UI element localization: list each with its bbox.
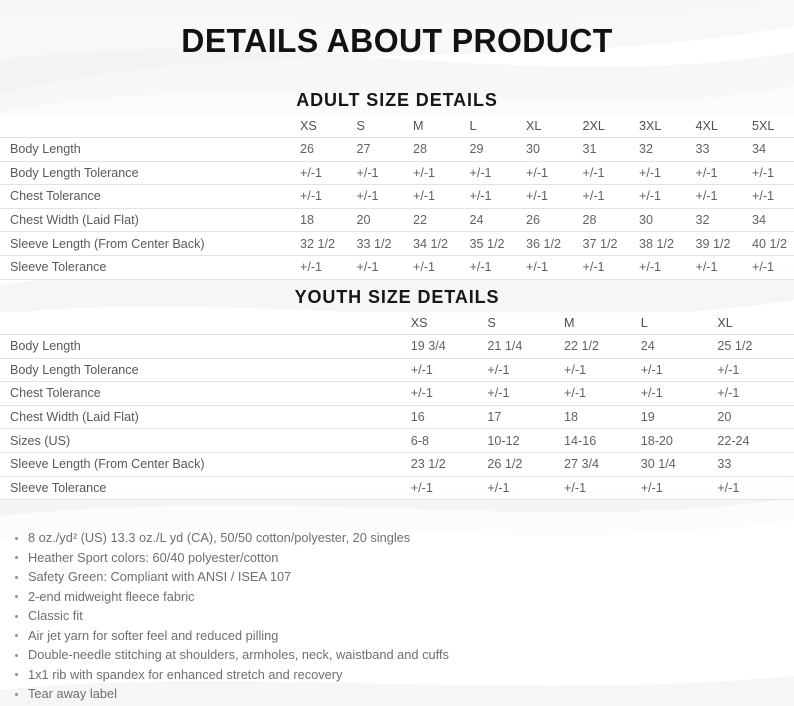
cell: +/-1 bbox=[300, 255, 357, 279]
cell: +/-1 bbox=[583, 161, 640, 185]
row-label: Chest Tolerance bbox=[0, 382, 411, 406]
cell: 16 bbox=[411, 405, 488, 429]
cell: +/-1 bbox=[487, 358, 564, 382]
cell: 36 1/2 bbox=[526, 232, 583, 256]
list-item: Safety Green: Compliant with ANSI / ISEA… bbox=[14, 567, 449, 587]
row-label: Body Length bbox=[0, 335, 411, 359]
cell: 32 1/2 bbox=[300, 232, 357, 256]
cell: +/-1 bbox=[696, 255, 753, 279]
table-row: Sleeve Length (From Center Back) 23 1/2 … bbox=[0, 452, 794, 476]
cell: 28 bbox=[413, 138, 470, 162]
cell: +/-1 bbox=[564, 358, 641, 382]
youth-size-table: XS S M L XL Body Length 19 3/4 21 1/4 22… bbox=[0, 312, 794, 500]
row-label: Sleeve Tolerance bbox=[0, 255, 300, 279]
cell: +/-1 bbox=[526, 161, 583, 185]
cell: 37 1/2 bbox=[583, 232, 640, 256]
youth-col-header: M bbox=[564, 312, 641, 335]
adult-size-details-heading: ADULT SIZE DETAILS bbox=[0, 90, 794, 111]
table-row: Sleeve Tolerance +/-1 +/-1 +/-1 +/-1 +/-… bbox=[0, 476, 794, 500]
row-label: Chest Width (Laid Flat) bbox=[0, 405, 411, 429]
adult-col-header: 3XL bbox=[639, 115, 696, 138]
cell: +/-1 bbox=[413, 255, 470, 279]
row-label: Sleeve Tolerance bbox=[0, 476, 411, 500]
cell: +/-1 bbox=[564, 382, 641, 406]
cell: +/-1 bbox=[752, 185, 794, 209]
youth-table-head: XS S M L XL bbox=[0, 312, 794, 335]
list-item: Tear away label bbox=[14, 684, 449, 704]
cell: +/-1 bbox=[696, 185, 753, 209]
row-label: Body Length Tolerance bbox=[0, 161, 300, 185]
cell: +/-1 bbox=[411, 382, 488, 406]
table-row: Chest Tolerance +/-1 +/-1 +/-1 +/-1 +/-1… bbox=[0, 185, 794, 209]
list-item: 1x1 rib with spandex for enhanced stretc… bbox=[14, 665, 449, 685]
adult-col-header: M bbox=[413, 115, 470, 138]
cell: 24 bbox=[470, 208, 527, 232]
cell: 32 bbox=[696, 208, 753, 232]
cell: +/-1 bbox=[526, 255, 583, 279]
cell: +/-1 bbox=[300, 185, 357, 209]
cell: +/-1 bbox=[413, 185, 470, 209]
cell: 27 3/4 bbox=[564, 452, 641, 476]
cell: +/-1 bbox=[413, 161, 470, 185]
adult-table-head: XS S M L XL 2XL 3XL 4XL 5XL bbox=[0, 115, 794, 138]
cell: +/-1 bbox=[752, 255, 794, 279]
adult-col-header: 5XL bbox=[752, 115, 794, 138]
cell: 17 bbox=[487, 405, 564, 429]
product-feature-list: 8 oz./yd² (US) 13.3 oz./L yd (CA), 50/50… bbox=[14, 528, 449, 704]
list-item: Double-needle stitching at shoulders, ar… bbox=[14, 645, 449, 665]
cell: +/-1 bbox=[411, 476, 488, 500]
adult-col-header: L bbox=[470, 115, 527, 138]
adult-corner-cell bbox=[0, 115, 300, 138]
youth-col-header: XS bbox=[411, 312, 488, 335]
cell: +/-1 bbox=[487, 382, 564, 406]
cell: +/-1 bbox=[583, 255, 640, 279]
cell: 21 1/4 bbox=[487, 335, 564, 359]
row-label: Sleeve Length (From Center Back) bbox=[0, 452, 411, 476]
cell: 26 bbox=[526, 208, 583, 232]
cell: 22 bbox=[413, 208, 470, 232]
cell: +/-1 bbox=[696, 161, 753, 185]
cell: 34 bbox=[752, 138, 794, 162]
table-row: Sizes (US) 6-8 10-12 14-16 18-20 22-24 bbox=[0, 429, 794, 453]
cell: +/-1 bbox=[717, 476, 794, 500]
row-label: Sizes (US) bbox=[0, 429, 411, 453]
cell: 38 1/2 bbox=[639, 232, 696, 256]
product-details-page: DETAILS ABOUT PRODUCT ADULT SIZE DETAILS… bbox=[0, 0, 794, 706]
youth-col-header: L bbox=[641, 312, 718, 335]
table-row: Body Length 26 27 28 29 30 31 32 33 34 bbox=[0, 138, 794, 162]
youth-corner-cell bbox=[0, 312, 411, 335]
row-label: Sleeve Length (From Center Back) bbox=[0, 232, 300, 256]
page-title: DETAILS ABOUT PRODUCT bbox=[12, 22, 782, 60]
cell: 32 bbox=[639, 138, 696, 162]
cell: 14-16 bbox=[564, 429, 641, 453]
cell: 34 1/2 bbox=[413, 232, 470, 256]
adult-col-header: 4XL bbox=[696, 115, 753, 138]
cell: 25 1/2 bbox=[717, 335, 794, 359]
cell: +/-1 bbox=[641, 358, 718, 382]
cell: 29 bbox=[470, 138, 527, 162]
cell: 18 bbox=[300, 208, 357, 232]
cell: 28 bbox=[583, 208, 640, 232]
cell: 6-8 bbox=[411, 429, 488, 453]
cell: +/-1 bbox=[639, 161, 696, 185]
adult-col-header: 2XL bbox=[583, 115, 640, 138]
table-row: Sleeve Length (From Center Back) 32 1/2 … bbox=[0, 232, 794, 256]
cell: 22-24 bbox=[717, 429, 794, 453]
adult-table-body: Body Length 26 27 28 29 30 31 32 33 34 B… bbox=[0, 138, 794, 280]
cell: 23 1/2 bbox=[411, 452, 488, 476]
cell: 33 bbox=[717, 452, 794, 476]
youth-header-row: XS S M L XL bbox=[0, 312, 794, 335]
cell: +/-1 bbox=[639, 255, 696, 279]
cell: +/-1 bbox=[526, 185, 583, 209]
cell: 27 bbox=[357, 138, 414, 162]
cell: 26 1/2 bbox=[487, 452, 564, 476]
cell: 18 bbox=[564, 405, 641, 429]
table-row: Body Length Tolerance +/-1 +/-1 +/-1 +/-… bbox=[0, 358, 794, 382]
table-row: Chest Width (Laid Flat) 16 17 18 19 20 bbox=[0, 405, 794, 429]
cell: +/-1 bbox=[411, 358, 488, 382]
cell: 33 1/2 bbox=[357, 232, 414, 256]
cell: 34 bbox=[752, 208, 794, 232]
cell: +/-1 bbox=[717, 358, 794, 382]
table-row: Body Length Tolerance +/-1 +/-1 +/-1 +/-… bbox=[0, 161, 794, 185]
youth-table-body: Body Length 19 3/4 21 1/4 22 1/2 24 25 1… bbox=[0, 335, 794, 500]
table-row: Body Length 19 3/4 21 1/4 22 1/2 24 25 1… bbox=[0, 335, 794, 359]
cell: 22 1/2 bbox=[564, 335, 641, 359]
table-row: Sleeve Tolerance +/-1 +/-1 +/-1 +/-1 +/-… bbox=[0, 255, 794, 279]
adult-col-header: XS bbox=[300, 115, 357, 138]
cell: +/-1 bbox=[752, 161, 794, 185]
table-row: Chest Width (Laid Flat) 18 20 22 24 26 2… bbox=[0, 208, 794, 232]
adult-size-table: XS S M L XL 2XL 3XL 4XL 5XL Body Length … bbox=[0, 115, 794, 280]
youth-col-header: XL bbox=[717, 312, 794, 335]
cell: 20 bbox=[357, 208, 414, 232]
cell: +/-1 bbox=[470, 161, 527, 185]
cell: +/-1 bbox=[357, 255, 414, 279]
list-item: 8 oz./yd² (US) 13.3 oz./L yd (CA), 50/50… bbox=[14, 528, 449, 548]
list-item: Air jet yarn for softer feel and reduced… bbox=[14, 626, 449, 646]
row-label: Body Length Tolerance bbox=[0, 358, 411, 382]
cell: 20 bbox=[717, 405, 794, 429]
cell: +/-1 bbox=[583, 185, 640, 209]
table-row: Chest Tolerance +/-1 +/-1 +/-1 +/-1 +/-1 bbox=[0, 382, 794, 406]
cell: 30 bbox=[526, 138, 583, 162]
cell: +/-1 bbox=[470, 255, 527, 279]
cell: 19 bbox=[641, 405, 718, 429]
cell: 40 1/2 bbox=[752, 232, 794, 256]
row-label: Chest Tolerance bbox=[0, 185, 300, 209]
row-label: Body Length bbox=[0, 138, 300, 162]
cell: 30 bbox=[639, 208, 696, 232]
adult-header-row: XS S M L XL 2XL 3XL 4XL 5XL bbox=[0, 115, 794, 138]
row-label: Chest Width (Laid Flat) bbox=[0, 208, 300, 232]
cell: 30 1/4 bbox=[641, 452, 718, 476]
cell: +/-1 bbox=[639, 185, 696, 209]
cell: 18-20 bbox=[641, 429, 718, 453]
cell: 31 bbox=[583, 138, 640, 162]
list-item: 2-end midweight fleece fabric bbox=[14, 587, 449, 607]
cell: 35 1/2 bbox=[470, 232, 527, 256]
cell: 10-12 bbox=[487, 429, 564, 453]
cell: +/-1 bbox=[717, 382, 794, 406]
youth-size-details-heading: YOUTH SIZE DETAILS bbox=[0, 287, 794, 308]
cell: +/-1 bbox=[357, 185, 414, 209]
cell: 26 bbox=[300, 138, 357, 162]
adult-col-header: XL bbox=[526, 115, 583, 138]
cell: 39 1/2 bbox=[696, 232, 753, 256]
cell: +/-1 bbox=[487, 476, 564, 500]
cell: 24 bbox=[641, 335, 718, 359]
youth-col-header: S bbox=[487, 312, 564, 335]
cell: +/-1 bbox=[641, 476, 718, 500]
cell: 33 bbox=[696, 138, 753, 162]
cell: +/-1 bbox=[300, 161, 357, 185]
list-item: Heather Sport colors: 60/40 polyester/co… bbox=[14, 548, 449, 568]
cell: +/-1 bbox=[357, 161, 414, 185]
cell: 19 3/4 bbox=[411, 335, 488, 359]
cell: +/-1 bbox=[564, 476, 641, 500]
cell: +/-1 bbox=[641, 382, 718, 406]
cell: +/-1 bbox=[470, 185, 527, 209]
adult-col-header: S bbox=[357, 115, 414, 138]
list-item: Classic fit bbox=[14, 606, 449, 626]
